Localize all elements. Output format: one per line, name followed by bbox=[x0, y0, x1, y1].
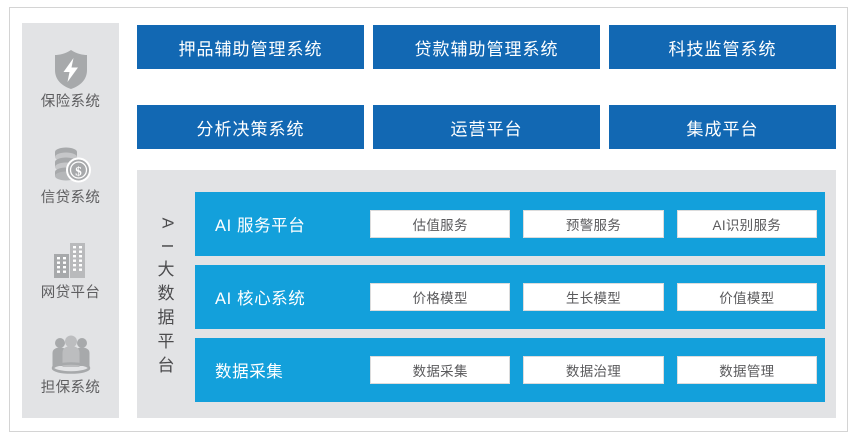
vertical-char: A bbox=[158, 217, 174, 228]
svg-text:$: $ bbox=[75, 163, 82, 178]
vertical-char: 大 bbox=[158, 261, 175, 278]
band-title: AI 服务平台 bbox=[215, 212, 370, 236]
top-systems-row-2: 分析决策系统 运营平台 集成平台 bbox=[137, 105, 836, 149]
band-title: AI 核心系统 bbox=[215, 285, 370, 309]
people-group-icon bbox=[49, 333, 93, 377]
system-box-collateral-aux-management[interactable]: 押品辅助管理系统 bbox=[137, 25, 364, 69]
buildings-icon bbox=[49, 238, 93, 282]
chip-data-collection[interactable]: 数据采集 bbox=[370, 356, 510, 384]
top-systems-row-1: 押品辅助管理系统 贷款辅助管理系统 科技监管系统 bbox=[137, 25, 836, 69]
sidebar-item-label: 担保系统 bbox=[41, 381, 101, 396]
vertical-char: 平 bbox=[158, 333, 175, 350]
system-box-tech-supervision[interactable]: 科技监管系统 bbox=[609, 25, 836, 69]
vertical-char: I bbox=[158, 243, 174, 247]
chip-value-model[interactable]: 价值模型 bbox=[677, 283, 817, 311]
platform-bands: AI 服务平台 估值服务 预警服务 AI识别服务 AI 核心系统 价格模型 生长… bbox=[195, 170, 836, 418]
sidebar-item-label: 保险系统 bbox=[41, 95, 101, 110]
band-data-collection: 数据采集 数据采集 数据治理 数据管理 bbox=[195, 338, 825, 402]
vertical-char: 台 bbox=[158, 357, 175, 374]
architecture-diagram: 保险系统 $ 信贷系统 bbox=[0, 0, 857, 444]
band-chips: 价格模型 生长模型 价值模型 bbox=[370, 283, 817, 311]
shield-bolt-icon bbox=[49, 47, 93, 91]
ai-bigdata-platform-panel: A I 大 数 据 平 台 AI 服务平台 估值服务 预警服务 AI识别服务 A… bbox=[137, 170, 836, 418]
band-chips: 数据采集 数据治理 数据管理 bbox=[370, 356, 817, 384]
band-title: 数据采集 bbox=[215, 358, 370, 382]
sidebar-item-online-lending[interactable]: 网贷平台 bbox=[22, 222, 119, 317]
chip-data-governance[interactable]: 数据治理 bbox=[523, 356, 663, 384]
chip-alert-service[interactable]: 预警服务 bbox=[523, 210, 663, 238]
system-box-analysis-decision[interactable]: 分析决策系统 bbox=[137, 105, 364, 149]
sidebar-item-label: 网贷平台 bbox=[41, 286, 101, 301]
coins-dollar-icon: $ bbox=[49, 143, 93, 187]
band-chips: 估值服务 预警服务 AI识别服务 bbox=[370, 210, 817, 238]
top-systems-section: 押品辅助管理系统 贷款辅助管理系统 科技监管系统 分析决策系统 运营平台 集成平… bbox=[137, 25, 836, 149]
band-ai-core-system: AI 核心系统 价格模型 生长模型 价值模型 bbox=[195, 265, 825, 329]
system-box-integration-platform[interactable]: 集成平台 bbox=[609, 105, 836, 149]
band-ai-service-platform: AI 服务平台 估值服务 预警服务 AI识别服务 bbox=[195, 192, 825, 256]
sidebar-item-credit[interactable]: $ 信贷系统 bbox=[22, 126, 119, 221]
sidebar-item-insurance[interactable]: 保险系统 bbox=[22, 31, 119, 126]
sidebar-item-label: 信贷系统 bbox=[41, 191, 101, 206]
chip-data-management[interactable]: 数据管理 bbox=[677, 356, 817, 384]
vertical-char: 据 bbox=[158, 309, 175, 326]
chip-price-model[interactable]: 价格模型 bbox=[370, 283, 510, 311]
system-box-loan-aux-management[interactable]: 贷款辅助管理系统 bbox=[373, 25, 600, 69]
chip-valuation-service[interactable]: 估值服务 bbox=[370, 210, 510, 238]
sidebar: 保险系统 $ 信贷系统 bbox=[22, 23, 119, 418]
chip-growth-model[interactable]: 生长模型 bbox=[523, 283, 663, 311]
chip-ai-recognition-service[interactable]: AI识别服务 bbox=[677, 210, 817, 238]
sidebar-item-guarantee[interactable]: 担保系统 bbox=[22, 317, 119, 412]
platform-vertical-label: A I 大 数 据 平 台 bbox=[137, 170, 195, 418]
system-box-operations-platform[interactable]: 运营平台 bbox=[373, 105, 600, 149]
vertical-char: 数 bbox=[158, 285, 175, 302]
